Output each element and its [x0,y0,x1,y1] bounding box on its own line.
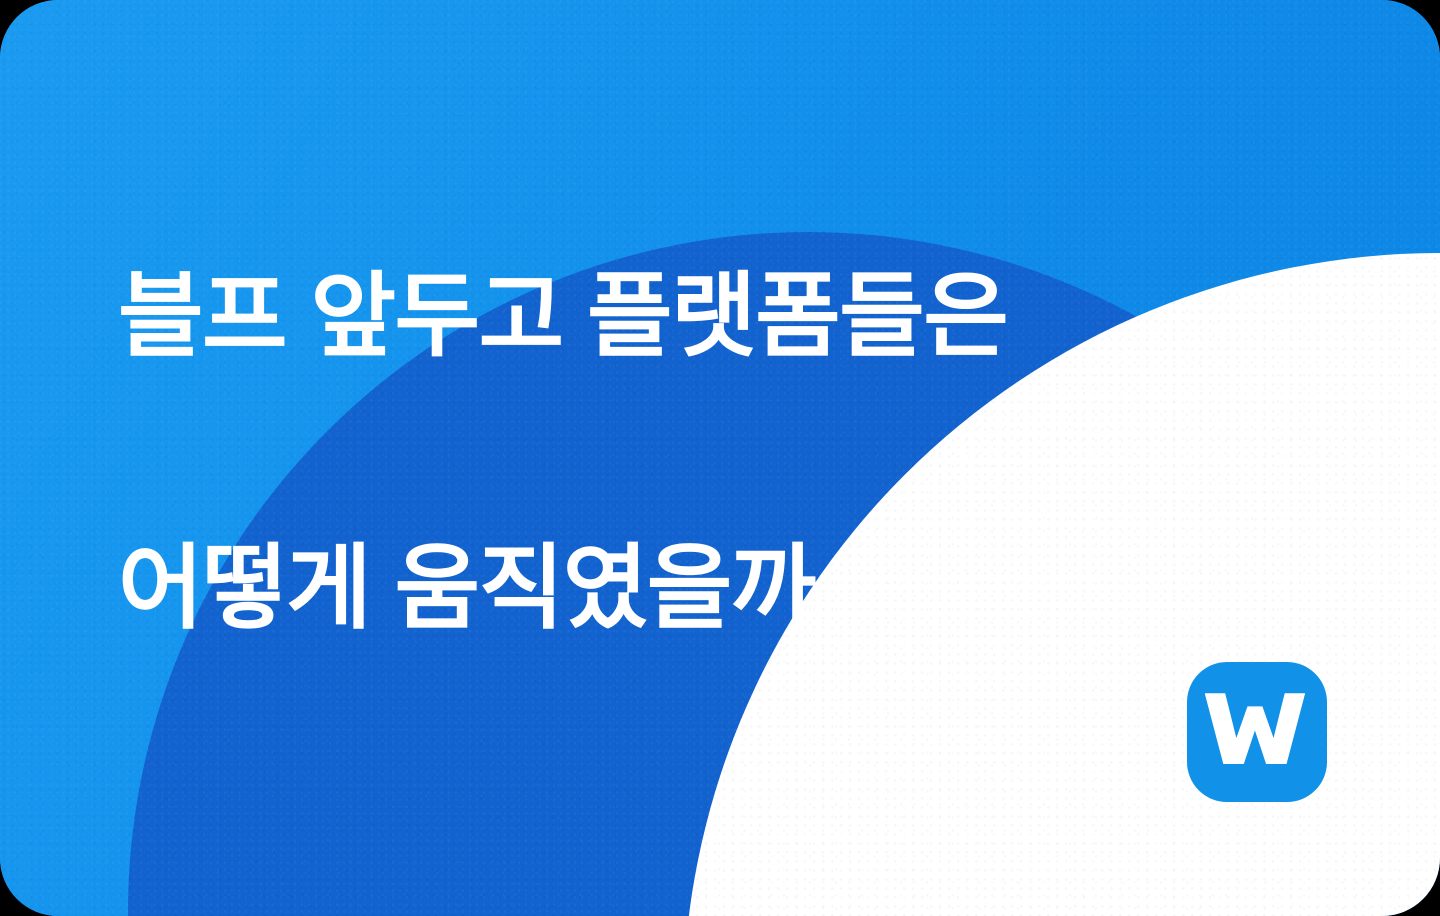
page-title: 블프 앞두고 플랫폼들은 어떻게 움직였을까 [118,112,1168,792]
headline-line-2: 어떻게 움직였을까 [118,520,1168,656]
headline-line-1: 블프 앞두고 플랫폼들은 [118,248,1168,384]
promo-card: 블프 앞두고 플랫폼들은 어떻게 움직였을까 [0,0,1440,916]
w-app-logo-icon [1187,662,1327,802]
